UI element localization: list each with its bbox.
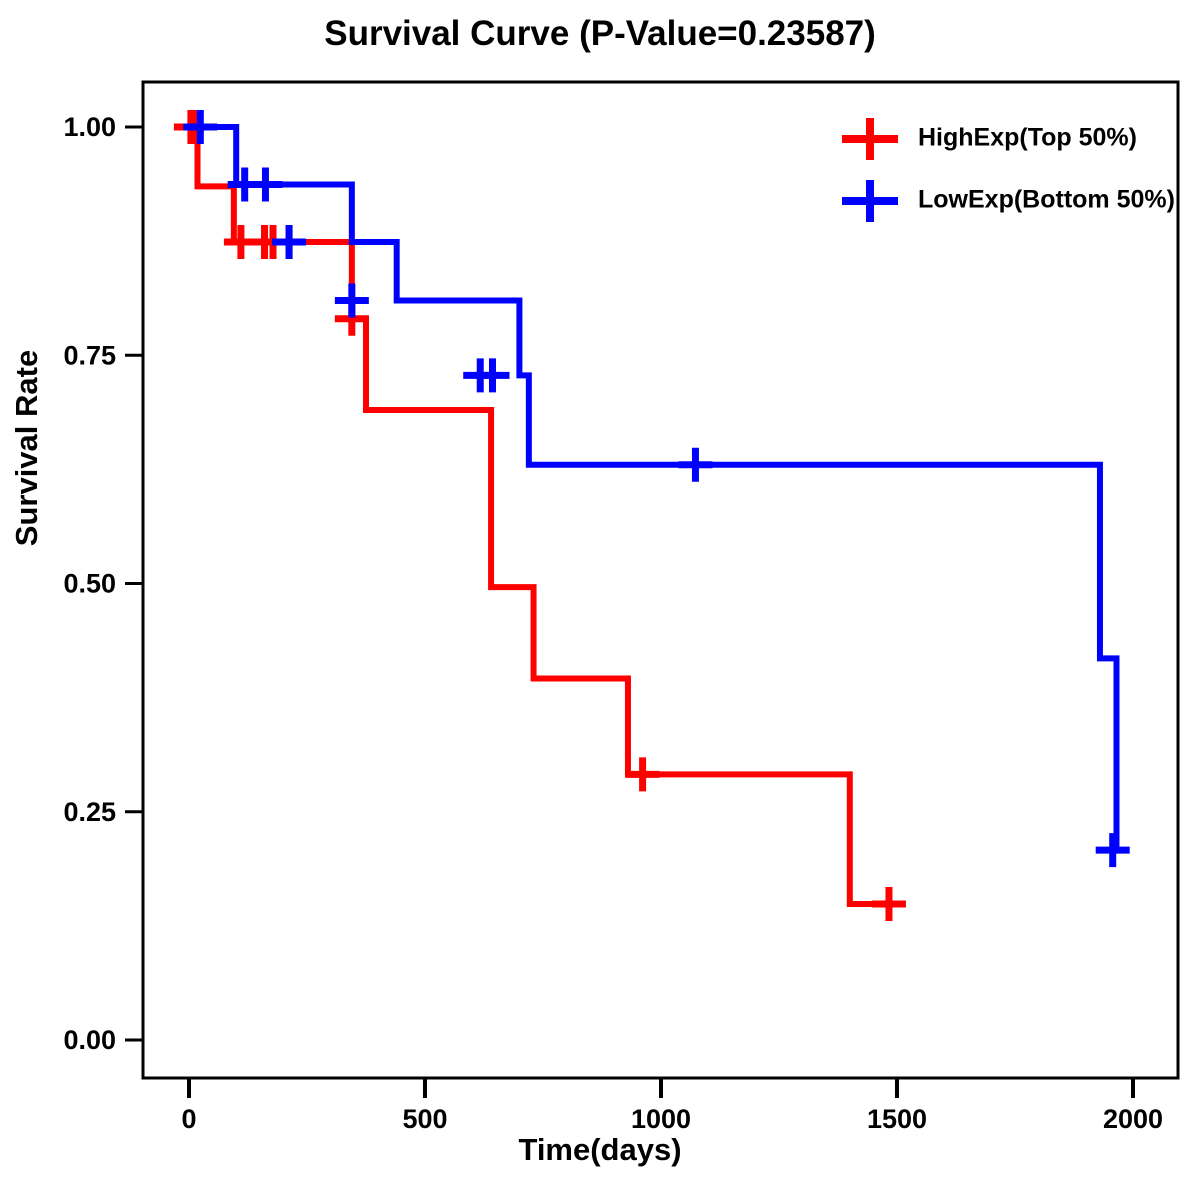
plot-frame — [143, 82, 1178, 1078]
legend: HighExp(Top 50%)LowExp(Bottom 50%) — [842, 118, 1175, 222]
censor-tick — [248, 168, 282, 202]
x-tick-label: 2000 — [1103, 1104, 1163, 1134]
series-high-exp — [174, 110, 906, 921]
y-tick-label: 1.00 — [63, 112, 116, 142]
y-axis-ticks: 0.000.250.500.751.00 — [63, 112, 143, 1055]
legend-label: HighExp(Top 50%) — [918, 124, 1137, 152]
legend-label: LowExp(Bottom 50%) — [918, 186, 1175, 214]
y-tick-label: 0.75 — [63, 340, 116, 370]
x-tick-label: 1000 — [631, 1104, 691, 1134]
step-line — [189, 127, 1116, 850]
censor-tick — [272, 225, 306, 259]
survival-curve-figure: Survival Curve (P-Value=0.23587) Surviva… — [0, 0, 1200, 1200]
legend-item-low-exp[interactable]: LowExp(Bottom 50%) — [842, 180, 1175, 222]
x-tick-label: 0 — [181, 1104, 196, 1134]
x-tick-label: 1500 — [867, 1104, 927, 1134]
x-axis-ticks: 0500100015002000 — [181, 1078, 1163, 1134]
y-tick-label: 0.00 — [63, 1025, 116, 1055]
series-low-exp — [183, 110, 1129, 867]
censor-tick — [1096, 833, 1130, 867]
x-tick-label: 500 — [402, 1104, 447, 1134]
y-tick-label: 0.25 — [63, 797, 116, 827]
censor-tick — [872, 887, 906, 921]
axis-frame — [143, 82, 1178, 1078]
censor-tick — [678, 448, 712, 482]
plot-area: 0.000.250.500.751.00 0500100015002000 Hi… — [0, 0, 1200, 1200]
censor-tick — [335, 283, 369, 317]
y-tick-label: 0.50 — [63, 569, 116, 599]
series-layer — [174, 110, 1130, 921]
legend-item-high-exp[interactable]: HighExp(Top 50%) — [842, 118, 1137, 160]
